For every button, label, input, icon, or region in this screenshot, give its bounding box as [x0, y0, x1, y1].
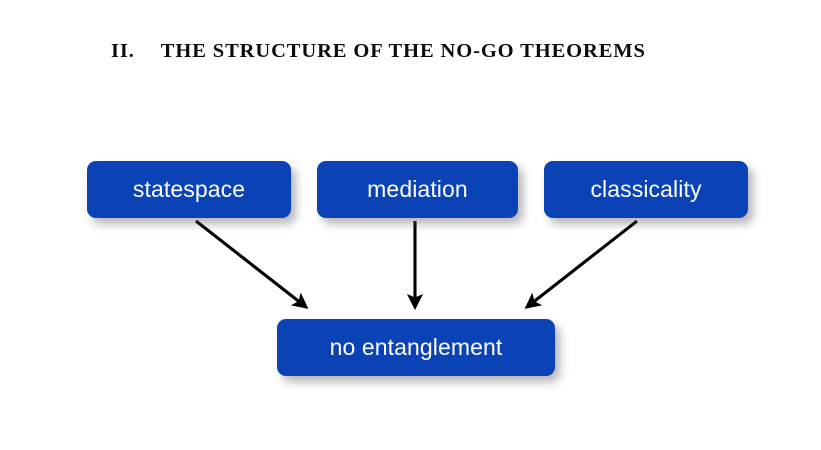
node-mediation-label: mediation — [367, 176, 468, 203]
node-no-entanglement-label: no entanglement — [330, 334, 503, 361]
flowchart-arrow-layer — [0, 0, 821, 450]
node-classicality[interactable]: classicality — [544, 161, 748, 218]
node-mediation[interactable]: mediation — [317, 161, 518, 218]
node-classicality-label: classicality — [590, 176, 701, 203]
node-no-entanglement[interactable]: no entanglement — [277, 319, 555, 376]
node-statespace[interactable]: statespace — [87, 161, 291, 218]
edge-classicality-to-no-entanglement — [527, 221, 637, 307]
edge-statespace-to-no-entanglement — [196, 221, 306, 307]
node-statespace-label: statespace — [133, 176, 245, 203]
page-canvas: II. THE STRUCTURE OF THE NO-GO THEOREMS … — [0, 0, 821, 450]
